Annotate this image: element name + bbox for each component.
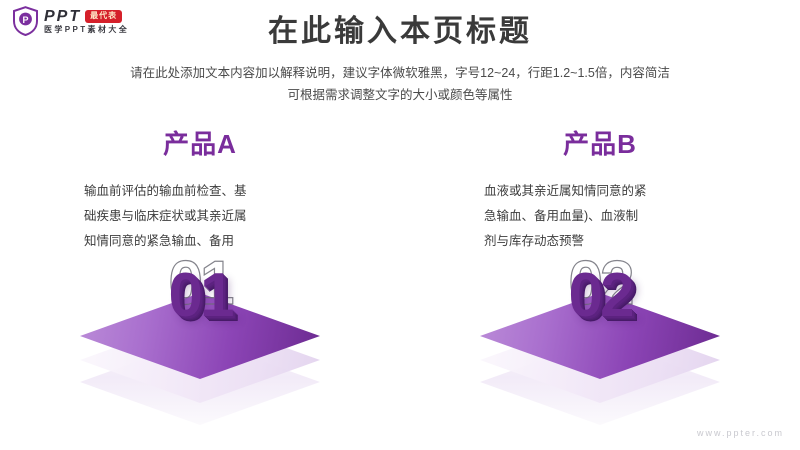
product-b-body-line-2: 急输血、备用血量)、血液制	[484, 204, 716, 229]
number-01: 01	[169, 265, 232, 327]
subtitle-line-2: 可根据需求调整文字的大小或颜色等属性	[0, 85, 800, 107]
platform-stack-01: 01 01	[50, 265, 350, 425]
product-column-a: 产品A 输血前评估的输血前检查、基 础疾患与临床症状或其亲近属 知情同意的紧急输…	[0, 130, 400, 254]
platform-column-b: 02 02	[400, 265, 800, 425]
product-a-heading: 产品A	[163, 130, 237, 159]
number-02: 02	[569, 265, 632, 327]
page-title: 在此输入本页标题	[0, 14, 800, 50]
page-subtitle: 请在此处添加文本内容加以解释说明，建议字体微软雅黑，字号12~24，行距1.2~…	[0, 63, 800, 107]
product-a-body: 输血前评估的输血前检查、基 础疾患与临床症状或其亲近属 知情同意的紧急输血、备用	[84, 179, 316, 254]
product-b-body: 血液或其亲近属知情同意的紧 急输血、备用血量)、血液制 剂与库存动态预警	[484, 179, 716, 254]
product-column-b: 产品B 血液或其亲近属知情同意的紧 急输血、备用血量)、血液制 剂与库存动态预警	[400, 130, 800, 254]
content-columns: 产品A 输血前评估的输血前检查、基 础疾患与临床症状或其亲近属 知情同意的紧急输…	[0, 130, 800, 254]
product-a-body-line-2: 础疾患与临床症状或其亲近属	[84, 204, 316, 229]
isometric-platforms: 01 01 02 02	[0, 265, 800, 425]
product-b-body-line-1: 血液或其亲近属知情同意的紧	[484, 179, 716, 204]
product-a-body-line-1: 输血前评估的输血前检查、基	[84, 179, 316, 204]
platform-stack-02: 02 02	[450, 265, 750, 425]
subtitle-line-1: 请在此处添加文本内容加以解释说明，建议字体微软雅黑，字号12~24，行距1.2~…	[0, 63, 800, 85]
footer-website-url: www.ppter.com	[697, 428, 784, 438]
platform-column-a: 01 01	[0, 265, 400, 425]
product-b-heading: 产品B	[563, 130, 637, 159]
